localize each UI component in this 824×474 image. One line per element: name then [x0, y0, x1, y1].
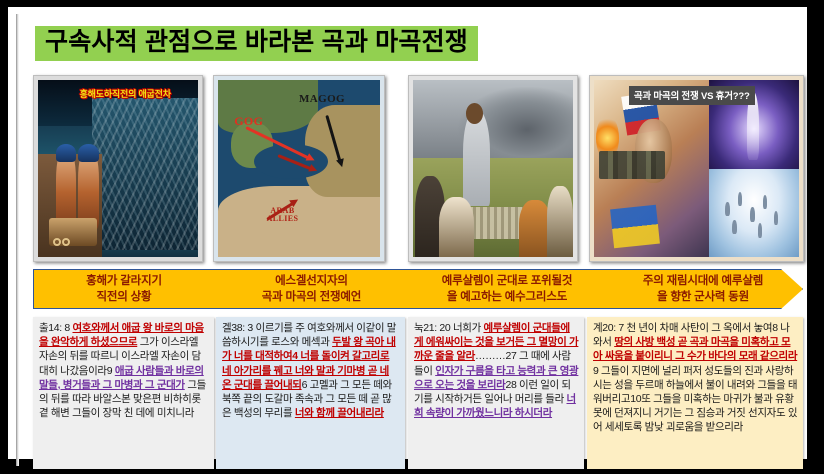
scripture-run-red: 너와 함께 끌어내리라: [295, 407, 384, 419]
panel-3-artwork: [413, 80, 573, 257]
red-sea-waves: [92, 98, 198, 250]
ukrainian-flag-icon: [610, 205, 660, 249]
panel-2-artwork: GOG MAGOG ARAB ALLIES: [218, 80, 380, 257]
ascending-figure: [763, 195, 768, 209]
ascending-figure: [774, 211, 779, 225]
helmet-icon: [56, 144, 77, 162]
landmass-africa: [218, 186, 380, 257]
map-label-gog: GOG: [234, 115, 263, 127]
image-panel-red-sea-chariots[interactable]: 홍해도하직전의 애굽전차: [33, 75, 203, 262]
panel-4-overlay-caption: 곡과 마곡의 전쟁 VS 휴거???: [629, 86, 755, 105]
map-label-arab-allies: ARAB ALLIES: [267, 207, 299, 223]
scripture-run-plain: 9: [107, 365, 115, 377]
image-panel-gog-magog-map[interactable]: GOG MAGOG ARAB ALLIES: [213, 75, 385, 262]
caption-cell-2: 에스겔선지자의 곡과 마곡의 전쟁예언: [214, 274, 409, 306]
scripture-run-red: 땅의 사방 백성 곧 곡과 마곡을 미혹하고 모아 싸움을 붙이리니 그 수가 …: [593, 336, 797, 362]
scripture-block-revelation-20: 계20: 7 천 년이 차매 사탄이 그 옥에서 놓여8 나와서 땅의 사방 백…: [587, 317, 803, 469]
disciple-figure-3: [519, 200, 551, 257]
arab-allies-line-2: ALLIES: [267, 214, 299, 223]
caption-cell-3: 예루살렘이 군대로 포위될것 을 예고하는 예수그리스도: [409, 274, 605, 306]
disciple-figure-4: [547, 186, 573, 257]
landmass-europe: [218, 80, 318, 133]
jesus-figure: [463, 110, 490, 206]
caption-banner: 홍해가 갈라지기 직전의 상황 에스겔선지자의 곡과 마곡의 전쟁예언 예루살렘…: [33, 269, 803, 309]
ascending-figure: [738, 192, 743, 206]
scripture-block-luke-21: 눅21: 20 너희가 예루살렘이 군대들에게 에워싸이는 것을 보거든 그 멸…: [408, 317, 584, 469]
caption-3-line-2: 을 예고하는 예수그리스도: [409, 290, 605, 306]
slide-canvas: 구속사적 관점으로 바라본 곡과 마곡전쟁 홍해도하직전의 애굽전차: [8, 7, 807, 459]
charioteer-figure-1: [56, 147, 77, 228]
caption-4-line-1: 주의 재림시대에 예루살렘: [605, 274, 801, 290]
ascending-figure: [725, 202, 730, 216]
image-panel-war-vs-rapture[interactable]: 곡과 마곡의 전쟁 VS 휴거???: [589, 75, 804, 262]
chariot-wheel-icon: [53, 238, 61, 246]
caption-2-line-2: 곡과 마곡의 전쟁예언: [214, 290, 409, 306]
rapture-ascending-people-scene: [709, 169, 799, 258]
image-panel-jesus-jerusalem[interactable]: [408, 75, 578, 262]
slide-frame: 구속사적 관점으로 바라본 곡과 마곡전쟁 홍해도하직전의 애굽전차: [0, 0, 824, 474]
war-collage: [594, 80, 709, 257]
caption-cell-1: 홍해가 갈라지기 직전의 상황: [34, 274, 214, 306]
caption-2-line-1: 에스겔선지자의: [214, 274, 409, 290]
panel-1-artwork: 홍해도하직전의 애굽전차: [38, 80, 198, 257]
map-label-magog: MAGOG: [299, 94, 345, 105]
charioteer-figure-2: [78, 147, 99, 228]
caption-1-line-2: 직전의 상황: [34, 290, 214, 306]
page-title: 구속사적 관점으로 바라본 곡과 마곡전쟁: [35, 26, 478, 61]
scripture-run-plain: 출14: 8: [39, 322, 72, 334]
tank-column: [599, 151, 666, 179]
panel-1-overlay-caption: 홍해도하직전의 애굽전차: [80, 87, 171, 100]
title-container: 구속사적 관점으로 바라본 곡과 마곡전쟁: [35, 26, 478, 61]
helmet-icon: [78, 144, 99, 162]
disciple-figure-2: [439, 197, 474, 257]
ascending-figure: [758, 223, 763, 237]
chariot-wheel-icon: [62, 238, 70, 246]
scripture-run-plain: 눅21: 20 너희가: [414, 322, 483, 334]
slide-left-edge-shadow: [16, 14, 19, 466]
chariot-body: [49, 218, 97, 246]
scripture-block-exodus-14: 출14: 8 여호와께서 애굽 왕 바로의 마음을 완악하게 하셨으므로 그가 …: [33, 317, 214, 469]
caption-1-line-1: 홍해가 갈라지기: [34, 274, 214, 290]
panel-4-artwork: 곡과 마곡의 전쟁 VS 휴거???: [594, 80, 799, 257]
ascending-figure: [732, 220, 737, 234]
scripture-run-plain: 9 그들이 지면에 널리 퍼저 성도들의 진과 사랑하시는 성을 두르매 하늘에…: [593, 365, 797, 434]
caption-3-line-1: 예루살렘이 군대로 포위될것: [409, 274, 605, 290]
caption-4-line-2: 을 향한 군사력 동원: [605, 290, 801, 306]
caption-cell-4: 주의 재림시대에 예루살렘 을 향한 군사력 동원: [605, 274, 801, 306]
scripture-block-ezekiel-38: 겔38: 3 이르기를 주 여호와께서 이같이 말씀하시기를 로스와 메섹과 두…: [216, 317, 405, 469]
ascending-figure: [750, 207, 755, 221]
